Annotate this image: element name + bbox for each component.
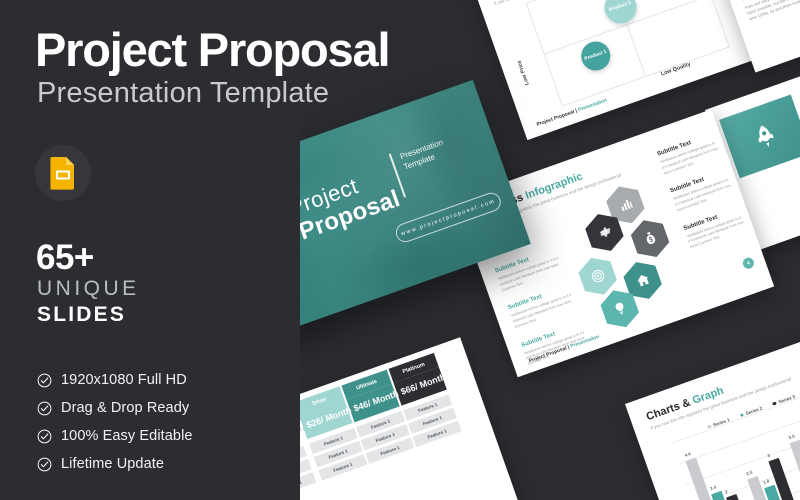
bar-chart-icon: [616, 195, 635, 214]
bar-value: 2: [724, 489, 728, 495]
slide-count-label-slides: SLIDES: [37, 304, 126, 325]
bar-value: 3.5: [788, 433, 796, 440]
page-number-badge: 4: [741, 256, 755, 270]
list-item: Subtitle Text Vestibulum before college …: [507, 284, 578, 331]
list-item: Subtitle Text Vestibulum before college …: [683, 206, 748, 251]
bar-value: 2.5: [745, 470, 753, 477]
list-item: Drag & Drop Ready: [37, 396, 337, 420]
feature-label: Drag & Drop Ready: [61, 400, 189, 416]
check-circle-icon: [37, 373, 52, 388]
slide-count: 65+: [36, 240, 94, 275]
check-circle-icon: [37, 457, 52, 472]
list-item: Subtitle Text Vestibulum before college …: [657, 132, 722, 177]
slide-count-label-unique: UNIQUE: [37, 278, 140, 299]
target-icon: [588, 267, 607, 286]
feature-list: 1920x1080 Full HD Drag & Drop Ready 100%…: [37, 368, 337, 480]
bar-value: 4.4: [684, 451, 692, 458]
bar-value: 2.4: [709, 484, 717, 491]
check-circle-icon: [37, 429, 52, 444]
feature-label: Lifetime Update: [61, 456, 164, 472]
axis-label-low-price: Low Price: [516, 59, 530, 85]
hexagon-money-bag[interactable]: [628, 215, 673, 263]
check-circle-icon: [37, 401, 52, 416]
list-item: 100% Easy Editable: [37, 424, 337, 448]
bar-value: 3: [767, 453, 771, 459]
gear-icon: [595, 223, 614, 242]
platform-badge[interactable]: [35, 145, 91, 201]
list-item: 1920x1080 Full HD: [37, 368, 337, 392]
bar-value: 1.8: [762, 478, 770, 485]
bar-series-3-cat-1: [726, 494, 750, 500]
page-title: Project Proposal: [35, 26, 389, 73]
list-item: Lifetime Update: [37, 452, 337, 476]
money-bag-icon: [640, 229, 659, 248]
feature-label: 100% Easy Editable: [61, 428, 193, 444]
rocket-icon: [749, 120, 782, 153]
list-item: Subtitle Text Vestibulum before college …: [670, 169, 735, 214]
google-slides-icon: [48, 156, 78, 190]
home-icon: [633, 271, 652, 290]
lightbulb-icon: [610, 299, 629, 318]
slide-charts-graph[interactable]: Charts & Graph If you use this site regu…: [625, 319, 800, 500]
page-subtitle: Presentation Template: [37, 77, 329, 110]
product-preview-banner: Product Position If you use this site re…: [0, 0, 800, 500]
feature-label: 1920x1080 Full HD: [61, 372, 187, 388]
slide-body-text: Free and easy variation of proposal stru…: [744, 0, 800, 22]
list-item: Subtitle Text Vestibulum before college …: [494, 247, 565, 294]
